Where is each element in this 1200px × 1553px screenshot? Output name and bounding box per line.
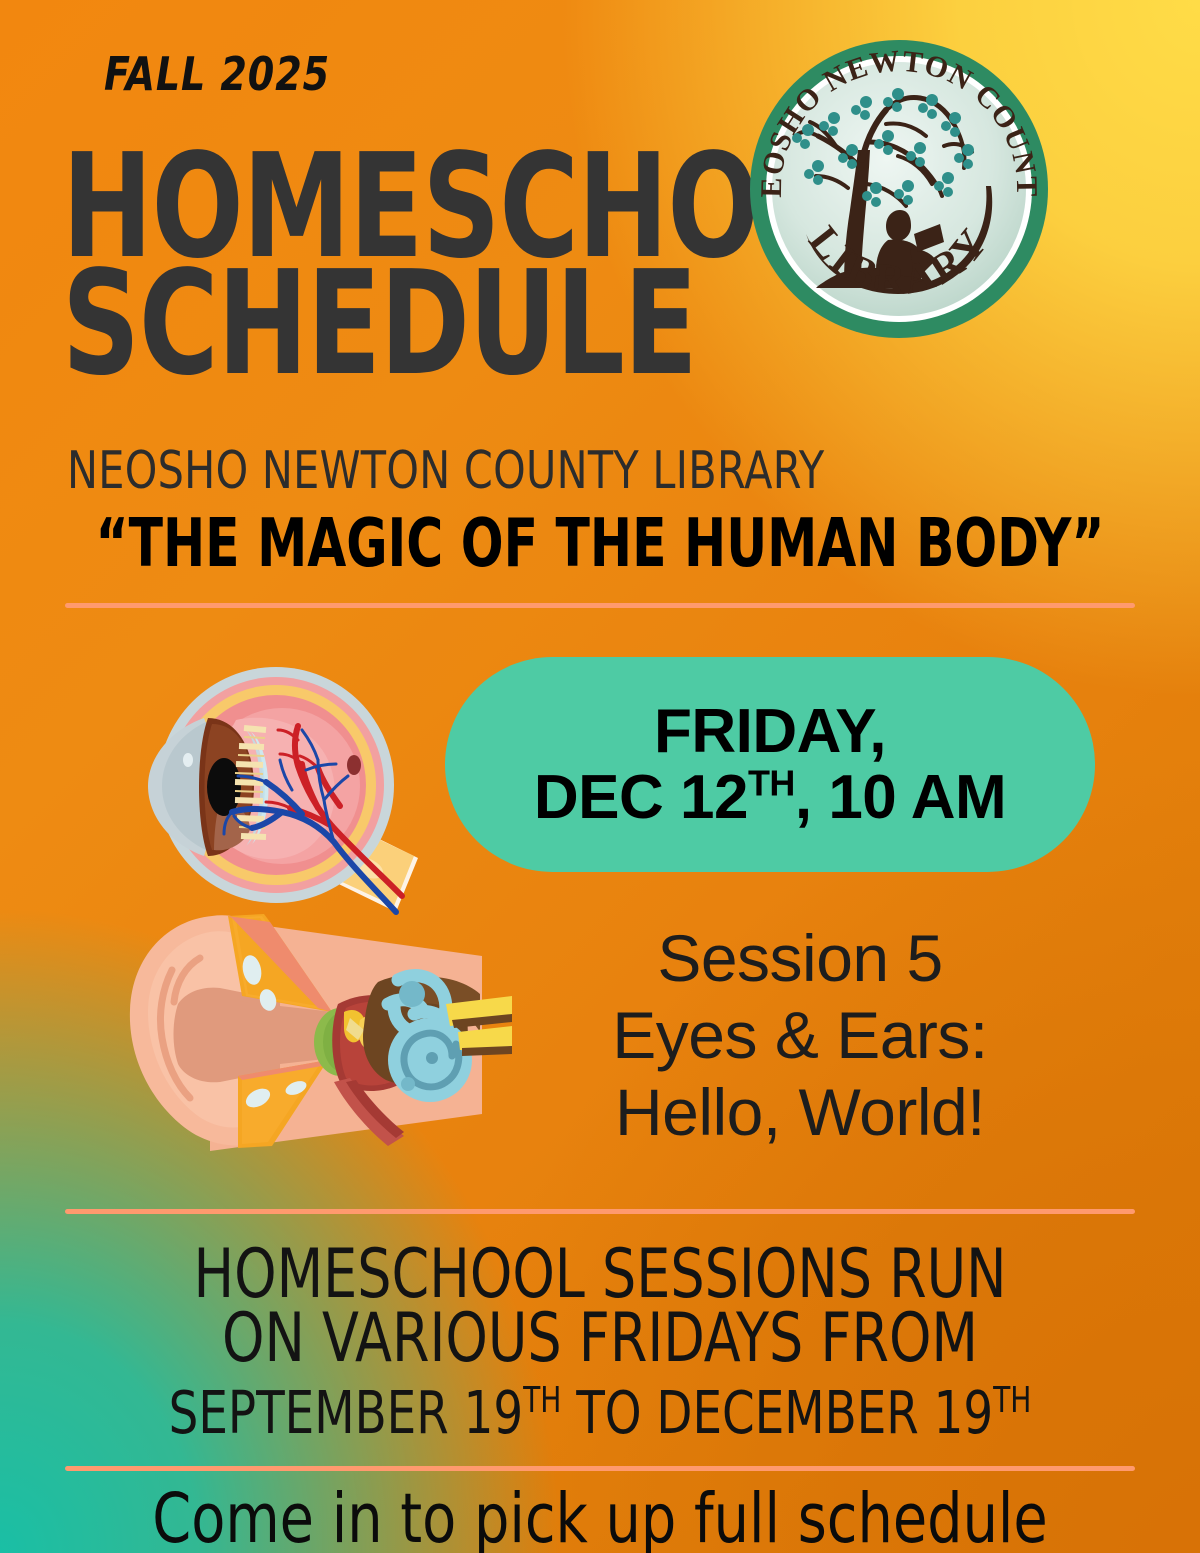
call-to-action-text: Come in to pick up full schedule — [0, 1478, 1200, 1553]
event-date-ordinal: TH — [748, 762, 795, 803]
event-date-text: FRIDAY, DEC 12TH, 10 AM — [534, 699, 1006, 829]
eye-anatomy-illustration — [96, 620, 496, 930]
run-end-date: TO DECEMBER 19 — [561, 1380, 993, 1448]
divider-top — [65, 603, 1135, 608]
library-seal-icon: NEOSHO NEWTON COUNTY LIBRARY — [748, 38, 1050, 340]
event-date-pill[interactable]: FRIDAY, DEC 12TH, 10 AM — [445, 657, 1095, 872]
homeschool-schedule-poster: FALL 2025 HOMESCHOOL SCHEDULE NEOSHO NEW… — [0, 0, 1200, 1553]
run-end-ordinal: TH — [993, 1381, 1031, 1422]
divider-middle — [65, 1209, 1135, 1214]
run-start-ordinal: TH — [523, 1381, 561, 1422]
event-time: , 10 AM — [795, 763, 1006, 832]
event-date-line: DEC 12TH, 10 AM — [534, 765, 1006, 830]
library-logo-seal: NEOSHO NEWTON COUNTY LIBRARY — [748, 38, 1050, 340]
event-day-label: FRIDAY, — [534, 699, 1006, 764]
ear-anatomy-illustration — [112, 908, 512, 1161]
run-dates-line-2: ON VARIOUS FRIDAYS FROM — [0, 1302, 1200, 1375]
organization-name: NEOSHO NEWTON COUNTY LIBRARY — [67, 440, 824, 500]
session-run-dates: HOMESCHOOL SESSIONS RUN ON VARIOUS FRIDA… — [0, 1238, 1200, 1442]
run-start-date: SEPTEMBER 19 — [169, 1380, 523, 1448]
run-dates-line-3: SEPTEMBER 19TH TO DECEMBER 19TH — [0, 1380, 1200, 1449]
session-info: Session 5 Eyes & Ears: Hello, World! — [520, 920, 1080, 1152]
session-tagline: Hello, World! — [520, 1074, 1080, 1151]
theme-title: “THE MAGIC OF THE HUMAN BODY” — [0, 505, 1200, 583]
session-number: Session 5 — [520, 920, 1080, 997]
season-year-label: FALL 2025 — [104, 47, 330, 101]
divider-bottom — [65, 1466, 1135, 1471]
event-month-day: DEC 12 — [534, 763, 748, 832]
session-topic: Eyes & Ears: — [520, 997, 1080, 1074]
